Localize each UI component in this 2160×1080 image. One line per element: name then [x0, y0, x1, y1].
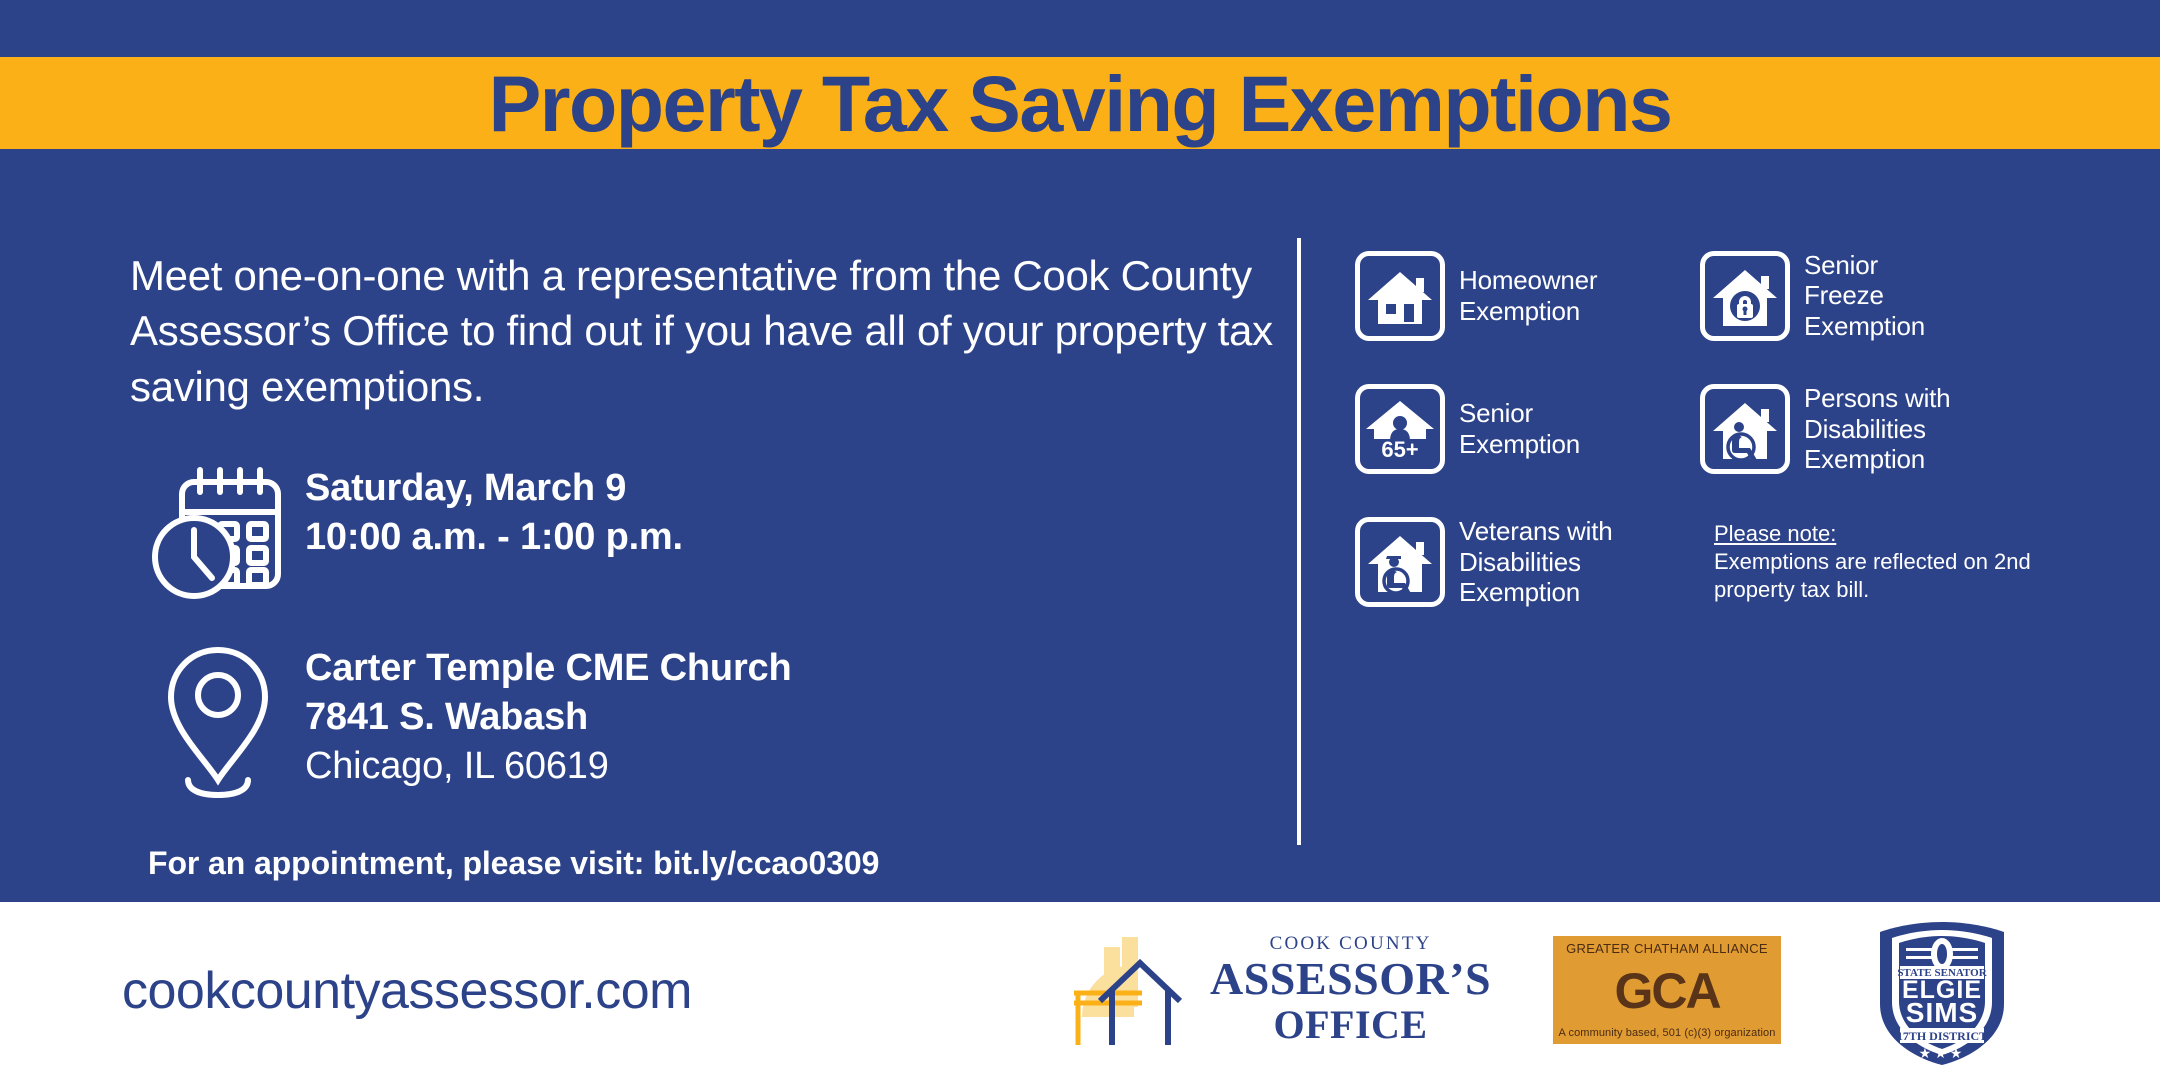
sims-sims-text: SIMS [1906, 997, 1978, 1028]
exemption-row: 65+ SeniorExemption [1355, 383, 2115, 474]
event-date: Saturday, March 9 [305, 464, 683, 513]
logo-line-assessors: ASSESSOR’S [1210, 955, 1491, 1003]
datetime-text: Saturday, March 9 10:00 a.m. - 1:00 p.m. [305, 456, 683, 561]
footer-bar: cookcountyassessor.com COOK COU [0, 902, 2160, 1080]
location-row: Carter Temple CME Church 7841 S. Wabash … [130, 636, 1290, 800]
logo-line-cook-county: COOK COUNTY [1210, 933, 1491, 955]
exemption-senior-freeze: SeniorFreezeExemption [1700, 250, 2100, 341]
website-url[interactable]: cookcountyassessor.com [122, 961, 692, 1021]
note-heading: Please note: [1714, 520, 2044, 548]
exemption-persons-disabilities: Persons withDisabilitiesExemption [1700, 383, 2100, 474]
gca-monogram: GCA [1614, 969, 1719, 1014]
exemption-label: SeniorFreezeExemption [1804, 250, 1925, 341]
house-icon [1355, 251, 1445, 341]
exemption-senior: 65+ SeniorExemption [1355, 384, 1700, 474]
gca-tagline-bottom: A community based, 501 (c)(3) organizati… [1559, 1027, 1776, 1039]
poster-canvas: Property Tax Saving Exemptions Meet one-… [0, 0, 2160, 1080]
sims-district-text: 17TH DISTRICT [1897, 1029, 1987, 1043]
exemption-homeowner: HomeownerExemption [1355, 251, 1700, 341]
intro-paragraph: Meet one-on-one with a representative fr… [130, 248, 1280, 414]
logo-line-office: OFFICE [1210, 1003, 1491, 1047]
greater-chatham-alliance-logo: GREATER CHATHAM ALLIANCE GCA A community… [1553, 936, 1781, 1044]
appointment-link[interactable]: For an appointment, please visit: bit.ly… [148, 845, 879, 882]
note-body: Exemptions are reflected on 2nd property… [1714, 548, 2044, 604]
please-note-block: Please note: Exemptions are reflected on… [1700, 520, 2100, 604]
exemption-veterans-disabilities: Veterans withDisabilitiesExemption [1355, 516, 1700, 607]
house-65plus-icon: 65+ [1355, 384, 1445, 474]
elgie-sims-logo: STATE SENATOR ELGIE SIMS 17TH DISTRICT ★… [1866, 918, 2018, 1068]
calendar-clock-icon [130, 456, 305, 600]
exemptions-grid: HomeownerExemption SeniorFreezeExemption [1355, 250, 2115, 608]
venue-name: Carter Temple CME Church [305, 644, 791, 693]
venue-city: Chicago, IL 60619 [305, 742, 791, 791]
assessor-house-mark [1030, 923, 1200, 1058]
cook-county-assessors-office-logo: COOK COUNTY ASSESSOR’S OFFICE [1030, 920, 1491, 1060]
house-veteran-icon [1355, 517, 1445, 607]
sims-stars: ★★★ [1919, 1045, 1966, 1061]
exemption-row: Veterans withDisabilitiesExemption Pleas… [1355, 516, 2115, 607]
exemption-row: HomeownerExemption SeniorFreezeExemption [1355, 250, 2115, 341]
venue-street: 7841 S. Wabash [305, 693, 791, 742]
house-lock-icon [1700, 251, 1790, 341]
svg-text:65+: 65+ [1381, 437, 1418, 462]
house-wheelchair-icon [1700, 384, 1790, 474]
vertical-divider [1297, 238, 1301, 845]
gca-tagline-top: GREATER CHATHAM ALLIANCE [1566, 941, 1768, 956]
location-text: Carter Temple CME Church 7841 S. Wabash … [305, 636, 791, 790]
exemption-label: HomeownerExemption [1459, 265, 1597, 326]
left-column: Meet one-on-one with a representative fr… [130, 248, 1290, 800]
datetime-row: Saturday, March 9 10:00 a.m. - 1:00 p.m. [130, 456, 1290, 600]
title-banner: Property Tax Saving Exemptions [0, 57, 2160, 149]
exemption-label: SeniorExemption [1459, 398, 1580, 459]
page-title: Property Tax Saving Exemptions [489, 64, 1672, 143]
exemption-label: Veterans withDisabilitiesExemption [1459, 516, 1613, 607]
exemption-label: Persons withDisabilitiesExemption [1804, 383, 1950, 474]
event-time: 10:00 a.m. - 1:00 p.m. [305, 513, 683, 562]
map-pin-icon [130, 636, 305, 800]
